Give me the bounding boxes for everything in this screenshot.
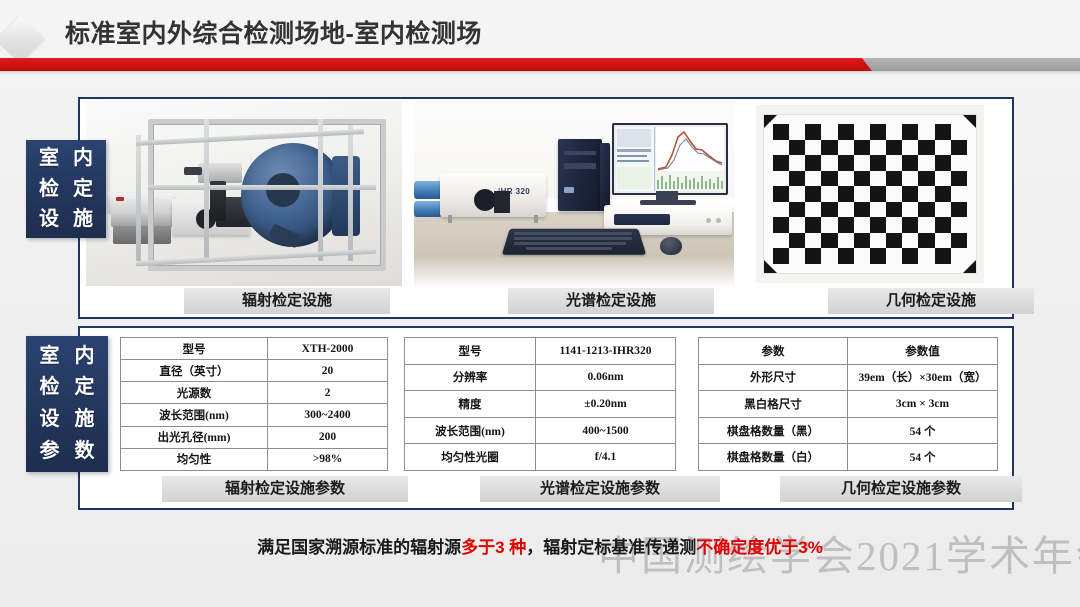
- side-tab-char: 室: [32, 341, 67, 373]
- conclusion-highlight-1: 多于3 种: [461, 538, 526, 557]
- checkerboard-cell: [773, 217, 789, 233]
- table-row: 棋盘格数量（白）54 个: [699, 444, 998, 471]
- checkerboard-cell: [789, 171, 805, 187]
- geometric-facility-photo: [756, 105, 984, 283]
- checkerboard-cell: [935, 233, 951, 249]
- checkerboard-cell: [773, 186, 789, 202]
- checkerboard-cell: [821, 248, 837, 264]
- side-tab-char: 定: [66, 174, 100, 204]
- table-cell: 黑白格尺寸: [699, 391, 848, 418]
- photo-captions-row: 辐射检定设施 光谱检定设施 几何检定设施: [80, 288, 1008, 314]
- checkerboard-cell: [789, 186, 805, 202]
- caption-spectral-facility: 光谱检定设施: [508, 288, 714, 314]
- checkerboard-cell: [935, 155, 951, 171]
- caption-spectral-params: 光谱检定设施参数: [480, 476, 720, 502]
- checkerboard-cell: [838, 202, 854, 218]
- table-cell: 参数值: [848, 338, 998, 365]
- table-row: 型号XTH-2000: [121, 338, 388, 360]
- checkerboard-cell: [870, 124, 886, 140]
- checkerboard-cell: [886, 248, 902, 264]
- checkerboard-cell: [805, 140, 821, 156]
- checkerboard-cell: [918, 217, 934, 233]
- side-tab-char: 施: [67, 404, 102, 436]
- table-row: 出光孔径(mm)200: [121, 426, 388, 448]
- table-cell: 20: [268, 360, 388, 382]
- checkerboard-cell: [870, 233, 886, 249]
- checkerboard-cell: [805, 124, 821, 140]
- side-tab-char: 施: [66, 204, 100, 234]
- checkerboard-cell: [805, 202, 821, 218]
- table-row: 精度±0.20nm: [405, 391, 676, 418]
- checkerboard-cell: [951, 140, 967, 156]
- checkerboard-cell: [805, 155, 821, 171]
- side-tab-char: 内: [66, 143, 100, 173]
- side-tab-char: 设: [32, 404, 67, 436]
- checkerboard-cell: [789, 202, 805, 218]
- checkerboard-cell: [902, 202, 918, 218]
- checkerboard-cell: [951, 186, 967, 202]
- table-cell: 棋盘格数量（白）: [699, 444, 848, 471]
- checkerboard-cell: [951, 202, 967, 218]
- table-cell: 参数: [699, 338, 848, 365]
- facility-photo-row: iHR 320: [82, 101, 1006, 311]
- checkerboard-cell: [821, 171, 837, 187]
- checkerboard-cell: [773, 171, 789, 187]
- table-row: 黑白格尺寸3cm × 3cm: [699, 391, 998, 418]
- table-cell: 300~2400: [268, 404, 388, 426]
- table-cell: 1141-1213-IHR320: [536, 338, 676, 365]
- table-row: 型号1141-1213-IHR320: [405, 338, 676, 365]
- checkerboard-cell: [789, 217, 805, 233]
- geometric-params-table: 参数参数值外形尺寸39em（长）×30em（宽）黑白格尺寸3cm × 3cm棋盘…: [698, 337, 998, 471]
- side-tab-char: 内: [67, 341, 102, 373]
- table-cell: 外形尺寸: [699, 364, 848, 391]
- checkerboard-cell: [805, 233, 821, 249]
- radiometric-params-table: 型号XTH-2000直径（英寸）20光源数2波长范围(nm)300~2400出光…: [120, 337, 388, 471]
- table-row: 波长范围(nm)400~1500: [405, 417, 676, 444]
- table-row: 波长范围(nm)300~2400: [121, 404, 388, 426]
- conclusion-text: 满足国家溯源标准的辐射源多于3 种，辐射定标基准传递测不确定度优于3%: [0, 533, 1080, 558]
- table-cell: 54 个: [848, 417, 998, 444]
- checkerboard-cell: [789, 248, 805, 264]
- side-tab-char: 室: [32, 143, 66, 173]
- checkerboard-cell: [854, 233, 870, 249]
- table-cell: 光源数: [121, 382, 268, 404]
- table-cell: 均匀性: [121, 448, 268, 470]
- checkerboard-cell: [821, 155, 837, 171]
- conclusion-part-2: ，辐射定标基准传递测: [526, 538, 696, 557]
- checkerboard-cell: [918, 202, 934, 218]
- slide-header: 标准室内外综合检测场地-室内检测场: [0, 0, 1080, 88]
- checkerboard-cell: [935, 186, 951, 202]
- checkerboard-cell: [838, 140, 854, 156]
- checkerboard-cell: [951, 217, 967, 233]
- checkerboard-cell: [902, 171, 918, 187]
- checkerboard-cell: [870, 217, 886, 233]
- checkerboard-cell: [886, 233, 902, 249]
- table-cell: 直径（英寸）: [121, 360, 268, 382]
- accent-bar-red: [0, 58, 872, 71]
- checkerboard-cell: [870, 140, 886, 156]
- params-tables-row: 型号XTH-2000直径（英寸）20光源数2波长范围(nm)300~2400出光…: [120, 337, 1010, 471]
- checkerboard-cell: [854, 186, 870, 202]
- checkerboard-cell: [902, 124, 918, 140]
- checkerboard-cell: [838, 124, 854, 140]
- table-cell: 3cm × 3cm: [848, 391, 998, 418]
- checkerboard-cell: [918, 171, 934, 187]
- checkerboard-cell: [935, 140, 951, 156]
- table-cell: 波长范围(nm): [121, 404, 268, 426]
- table-cell: 分辨率: [405, 364, 536, 391]
- checkerboard-cell: [902, 233, 918, 249]
- table-cell: 400~1500: [536, 417, 676, 444]
- checkerboard-cell: [935, 217, 951, 233]
- conclusion-part-1: 满足国家溯源标准的辐射源: [257, 538, 461, 557]
- checkerboard-cell: [951, 233, 967, 249]
- checkerboard-cell: [870, 171, 886, 187]
- checkerboard-cell: [886, 186, 902, 202]
- checkerboard-cell: [821, 186, 837, 202]
- table-cell: 0.06nm: [536, 364, 676, 391]
- checkerboard-cell: [838, 186, 854, 202]
- table-cell: 出光孔径(mm): [121, 426, 268, 448]
- checkerboard-cell: [789, 155, 805, 171]
- radiometric-facility-photo: [86, 101, 402, 286]
- checkerboard-cell: [854, 124, 870, 140]
- checkerboard-cell: [870, 155, 886, 171]
- checkerboard-cell: [854, 248, 870, 264]
- checkerboard-cell: [918, 140, 934, 156]
- checkerboard-cell: [805, 217, 821, 233]
- checkerboard-cell: [805, 186, 821, 202]
- checkerboard-cell: [918, 233, 934, 249]
- table-cell: 54 个: [848, 444, 998, 471]
- checkerboard-cell: [821, 202, 837, 218]
- table-cell: ±0.20nm: [536, 391, 676, 418]
- checkerboard-cell: [870, 248, 886, 264]
- table-captions-row: 辐射检定设施参数 光谱检定设施参数 几何检定设施参数: [80, 476, 1008, 502]
- checkerboard-cell: [838, 248, 854, 264]
- checkerboard-cell: [805, 248, 821, 264]
- checkerboard-cell: [902, 140, 918, 156]
- table-row: 均匀性>98%: [121, 448, 388, 470]
- checkerboard-cell: [789, 140, 805, 156]
- caption-geometric-params: 几何检定设施参数: [780, 476, 1022, 502]
- checkerboard-cell: [886, 155, 902, 171]
- accent-bar-shadow: [0, 71, 1080, 75]
- checkerboard-cell: [838, 233, 854, 249]
- checkerboard-cell: [902, 186, 918, 202]
- table-row: 直径（英寸）20: [121, 360, 388, 382]
- side-tab-char: 检: [32, 174, 66, 204]
- caption-radiometric-facility: 辐射检定设施: [184, 288, 390, 314]
- checkerboard-cell: [902, 155, 918, 171]
- checkerboard-cell: [918, 186, 934, 202]
- checkerboard-cell: [854, 171, 870, 187]
- table-row: 外形尺寸39em（长）×30em（宽）: [699, 364, 998, 391]
- checkerboard-cell: [886, 202, 902, 218]
- table-cell: >98%: [268, 448, 388, 470]
- table-row: 参数参数值: [699, 338, 998, 365]
- checkerboard-cell: [935, 124, 951, 140]
- checkerboard-grid: [773, 124, 967, 264]
- checkerboard-cell: [838, 155, 854, 171]
- checkerboard-cell: [918, 248, 934, 264]
- table-cell: 2: [268, 382, 388, 404]
- checkerboard-cell: [789, 233, 805, 249]
- checkerboard-cell: [951, 171, 967, 187]
- checkerboard-cell: [870, 186, 886, 202]
- checkerboard-cell: [773, 155, 789, 171]
- table-cell: 精度: [405, 391, 536, 418]
- checkerboard-cell: [821, 124, 837, 140]
- side-tab-char: 参: [32, 436, 67, 468]
- checkerboard-cell: [886, 124, 902, 140]
- checkerboard-cell: [773, 140, 789, 156]
- checkerboard-cell: [789, 124, 805, 140]
- checkerboard-cell: [902, 217, 918, 233]
- table-cell: f/4.1: [536, 444, 676, 471]
- slide-root: 标准室内外综合检测场地-室内检测场: [0, 0, 1080, 607]
- table-cell: XTH-2000: [268, 338, 388, 360]
- table-cell: 型号: [405, 338, 536, 365]
- side-tab-char: 数: [67, 436, 102, 468]
- table-row: 棋盘格数量（黑）54 个: [699, 417, 998, 444]
- checkerboard-cell: [805, 171, 821, 187]
- side-tab-indoor-facility-params: 室内检定设施参数: [26, 336, 108, 472]
- checkerboard-cell: [821, 217, 837, 233]
- side-tab-char: 检: [32, 372, 67, 404]
- checkerboard-cell: [918, 155, 934, 171]
- header-accent-bar: [0, 58, 1080, 74]
- spectral-params-table: 型号1141-1213-IHR320分辨率0.06nm精度±0.20nm波长范围…: [404, 337, 676, 471]
- checkerboard-cell: [854, 140, 870, 156]
- checkerboard-cell: [886, 217, 902, 233]
- checkerboard-cell: [886, 171, 902, 187]
- side-tab-char: 定: [67, 372, 102, 404]
- side-tab-indoor-facility: 室内检定设施: [26, 140, 106, 238]
- table-row: 光源数2: [121, 382, 388, 404]
- diamond-icon: [0, 15, 45, 63]
- checkerboard-cell: [854, 202, 870, 218]
- checkerboard-cell: [935, 248, 951, 264]
- checkerboard-cell: [918, 124, 934, 140]
- checkerboard-cell: [854, 155, 870, 171]
- conclusion-highlight-2: 不确定度优于3%: [696, 538, 823, 557]
- checkerboard-cell: [821, 140, 837, 156]
- table-cell: 39em（长）×30em（宽）: [848, 364, 998, 391]
- table-row: 均匀性光圈f/4.1: [405, 444, 676, 471]
- checkerboard-cell: [902, 248, 918, 264]
- checkerboard-cell: [870, 202, 886, 218]
- checkerboard-cell: [821, 233, 837, 249]
- checkerboard-cell: [773, 233, 789, 249]
- caption-geometric-facility: 几何检定设施: [828, 288, 1034, 314]
- side-tab-char: 设: [32, 204, 66, 234]
- table-cell: 均匀性光圈: [405, 444, 536, 471]
- spectral-facility-photo: iHR 320: [414, 101, 734, 286]
- checkerboard-cell: [951, 155, 967, 171]
- table-cell: 200: [268, 426, 388, 448]
- checkerboard-cell: [854, 217, 870, 233]
- checkerboard-cell: [935, 202, 951, 218]
- caption-radiometric-params: 辐射检定设施参数: [162, 476, 408, 502]
- checkerboard-cell: [935, 171, 951, 187]
- checkerboard-cell: [838, 171, 854, 187]
- table-cell: 棋盘格数量（黑）: [699, 417, 848, 444]
- checkerboard-cell: [886, 140, 902, 156]
- checkerboard-cell: [773, 202, 789, 218]
- table-row: 分辨率0.06nm: [405, 364, 676, 391]
- table-cell: 波长范围(nm): [405, 417, 536, 444]
- checkerboard-cell: [838, 217, 854, 233]
- table-cell: 型号: [121, 338, 268, 360]
- page-title: 标准室内外综合检测场地-室内检测场: [65, 14, 482, 50]
